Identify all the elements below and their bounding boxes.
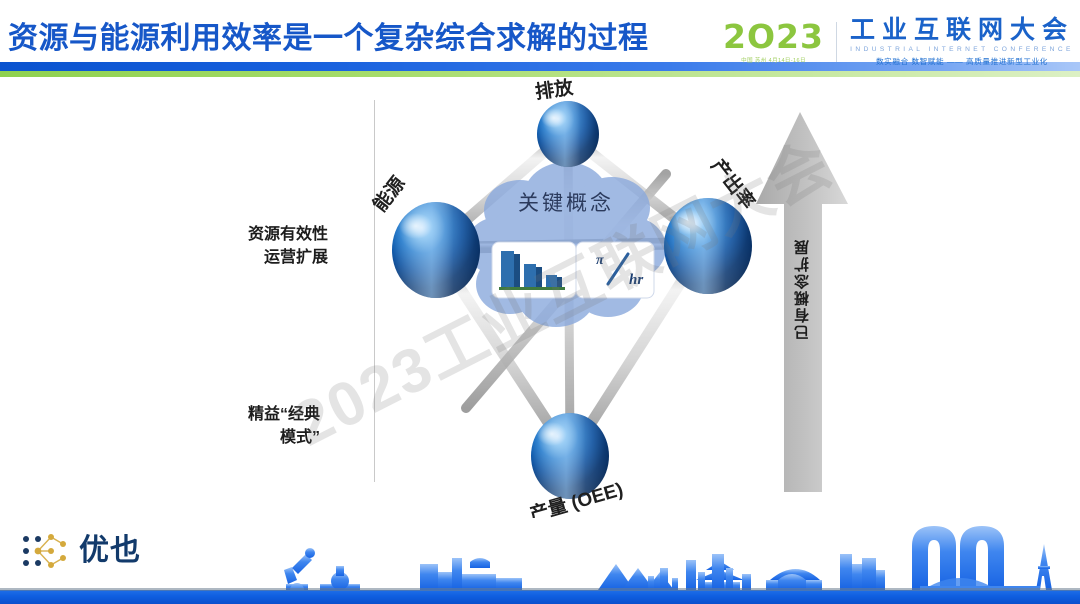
conference-location-date: 中国 苏州 4月14日-16日: [723, 56, 824, 64]
shore-line: [0, 588, 1080, 591]
city-skyline-graphic: [0, 526, 1080, 604]
sea-band: [0, 590, 1080, 604]
slide-header: 资源与能源利用效率是一个复杂综合求解的过程 2O23 中国 苏州 4月14日-1…: [0, 0, 1080, 78]
label-resource-effectiveness: 资源有效性 运营扩展: [248, 223, 328, 269]
slide-body: 资源有效性 运营扩展 精益“经典 模式” 已有概念扩展: [0, 78, 1080, 526]
formula-card: [576, 242, 654, 298]
node-energy[interactable]: [392, 202, 480, 298]
slide-canvas: 资源与能源利用效率是一个复杂综合求解的过程 2O23 中国 苏州 4月14日-1…: [0, 0, 1080, 604]
conference-slogan: 数实融合 数智赋能 —— 高质量推进新型工业化: [850, 56, 1074, 67]
label-lean-classic-model: 精益“经典 模式”: [248, 403, 320, 449]
title-rule-green: [0, 71, 1080, 77]
label-resource-line2: 运营扩展: [248, 246, 328, 269]
conference-name-cn: 工业互联网大会: [850, 17, 1074, 43]
conference-logo: 2O23 中国 苏州 4月14日-16日 工业互联网大会 INDUSTRIAL …: [723, 16, 1074, 68]
formula-denominator: hr: [629, 272, 643, 288]
conference-year: 2O23: [723, 20, 824, 53]
network-dots-icon: [22, 534, 70, 568]
brand-name: 优也: [79, 536, 141, 566]
node-label-emission: 排放: [534, 78, 576, 104]
label-lean-line2: 模式”: [248, 426, 320, 449]
node-label-energy: 能源: [370, 172, 410, 216]
node-output[interactable]: [664, 198, 752, 294]
slide-footer: [0, 526, 1080, 604]
label-resource-line1: 资源有效性: [248, 223, 328, 246]
formula-numerator: π: [596, 253, 604, 268]
conference-name-en: INDUSTRIAL INTERNET CONFERENCE: [850, 46, 1074, 53]
page-title: 资源与能源利用效率是一个复杂综合求解的过程: [8, 13, 649, 57]
label-lean-line1: 精益“经典: [248, 403, 320, 426]
concept-network-diagram: 关键概念 π hr: [370, 78, 790, 518]
node-emission[interactable]: [537, 101, 599, 167]
brand-logo: 优也: [22, 534, 141, 568]
growth-arrow-label: 已有概念扩展: [792, 238, 813, 340]
cloud-title: 关键概念: [518, 192, 614, 215]
conference-name-block: 工业互联网大会 INDUSTRIAL INTERNET CONFERENCE 数…: [837, 17, 1074, 66]
concept-cards: π hr: [492, 242, 654, 298]
conference-year-block: 2O23 中国 苏州 4月14日-16日: [723, 20, 836, 64]
